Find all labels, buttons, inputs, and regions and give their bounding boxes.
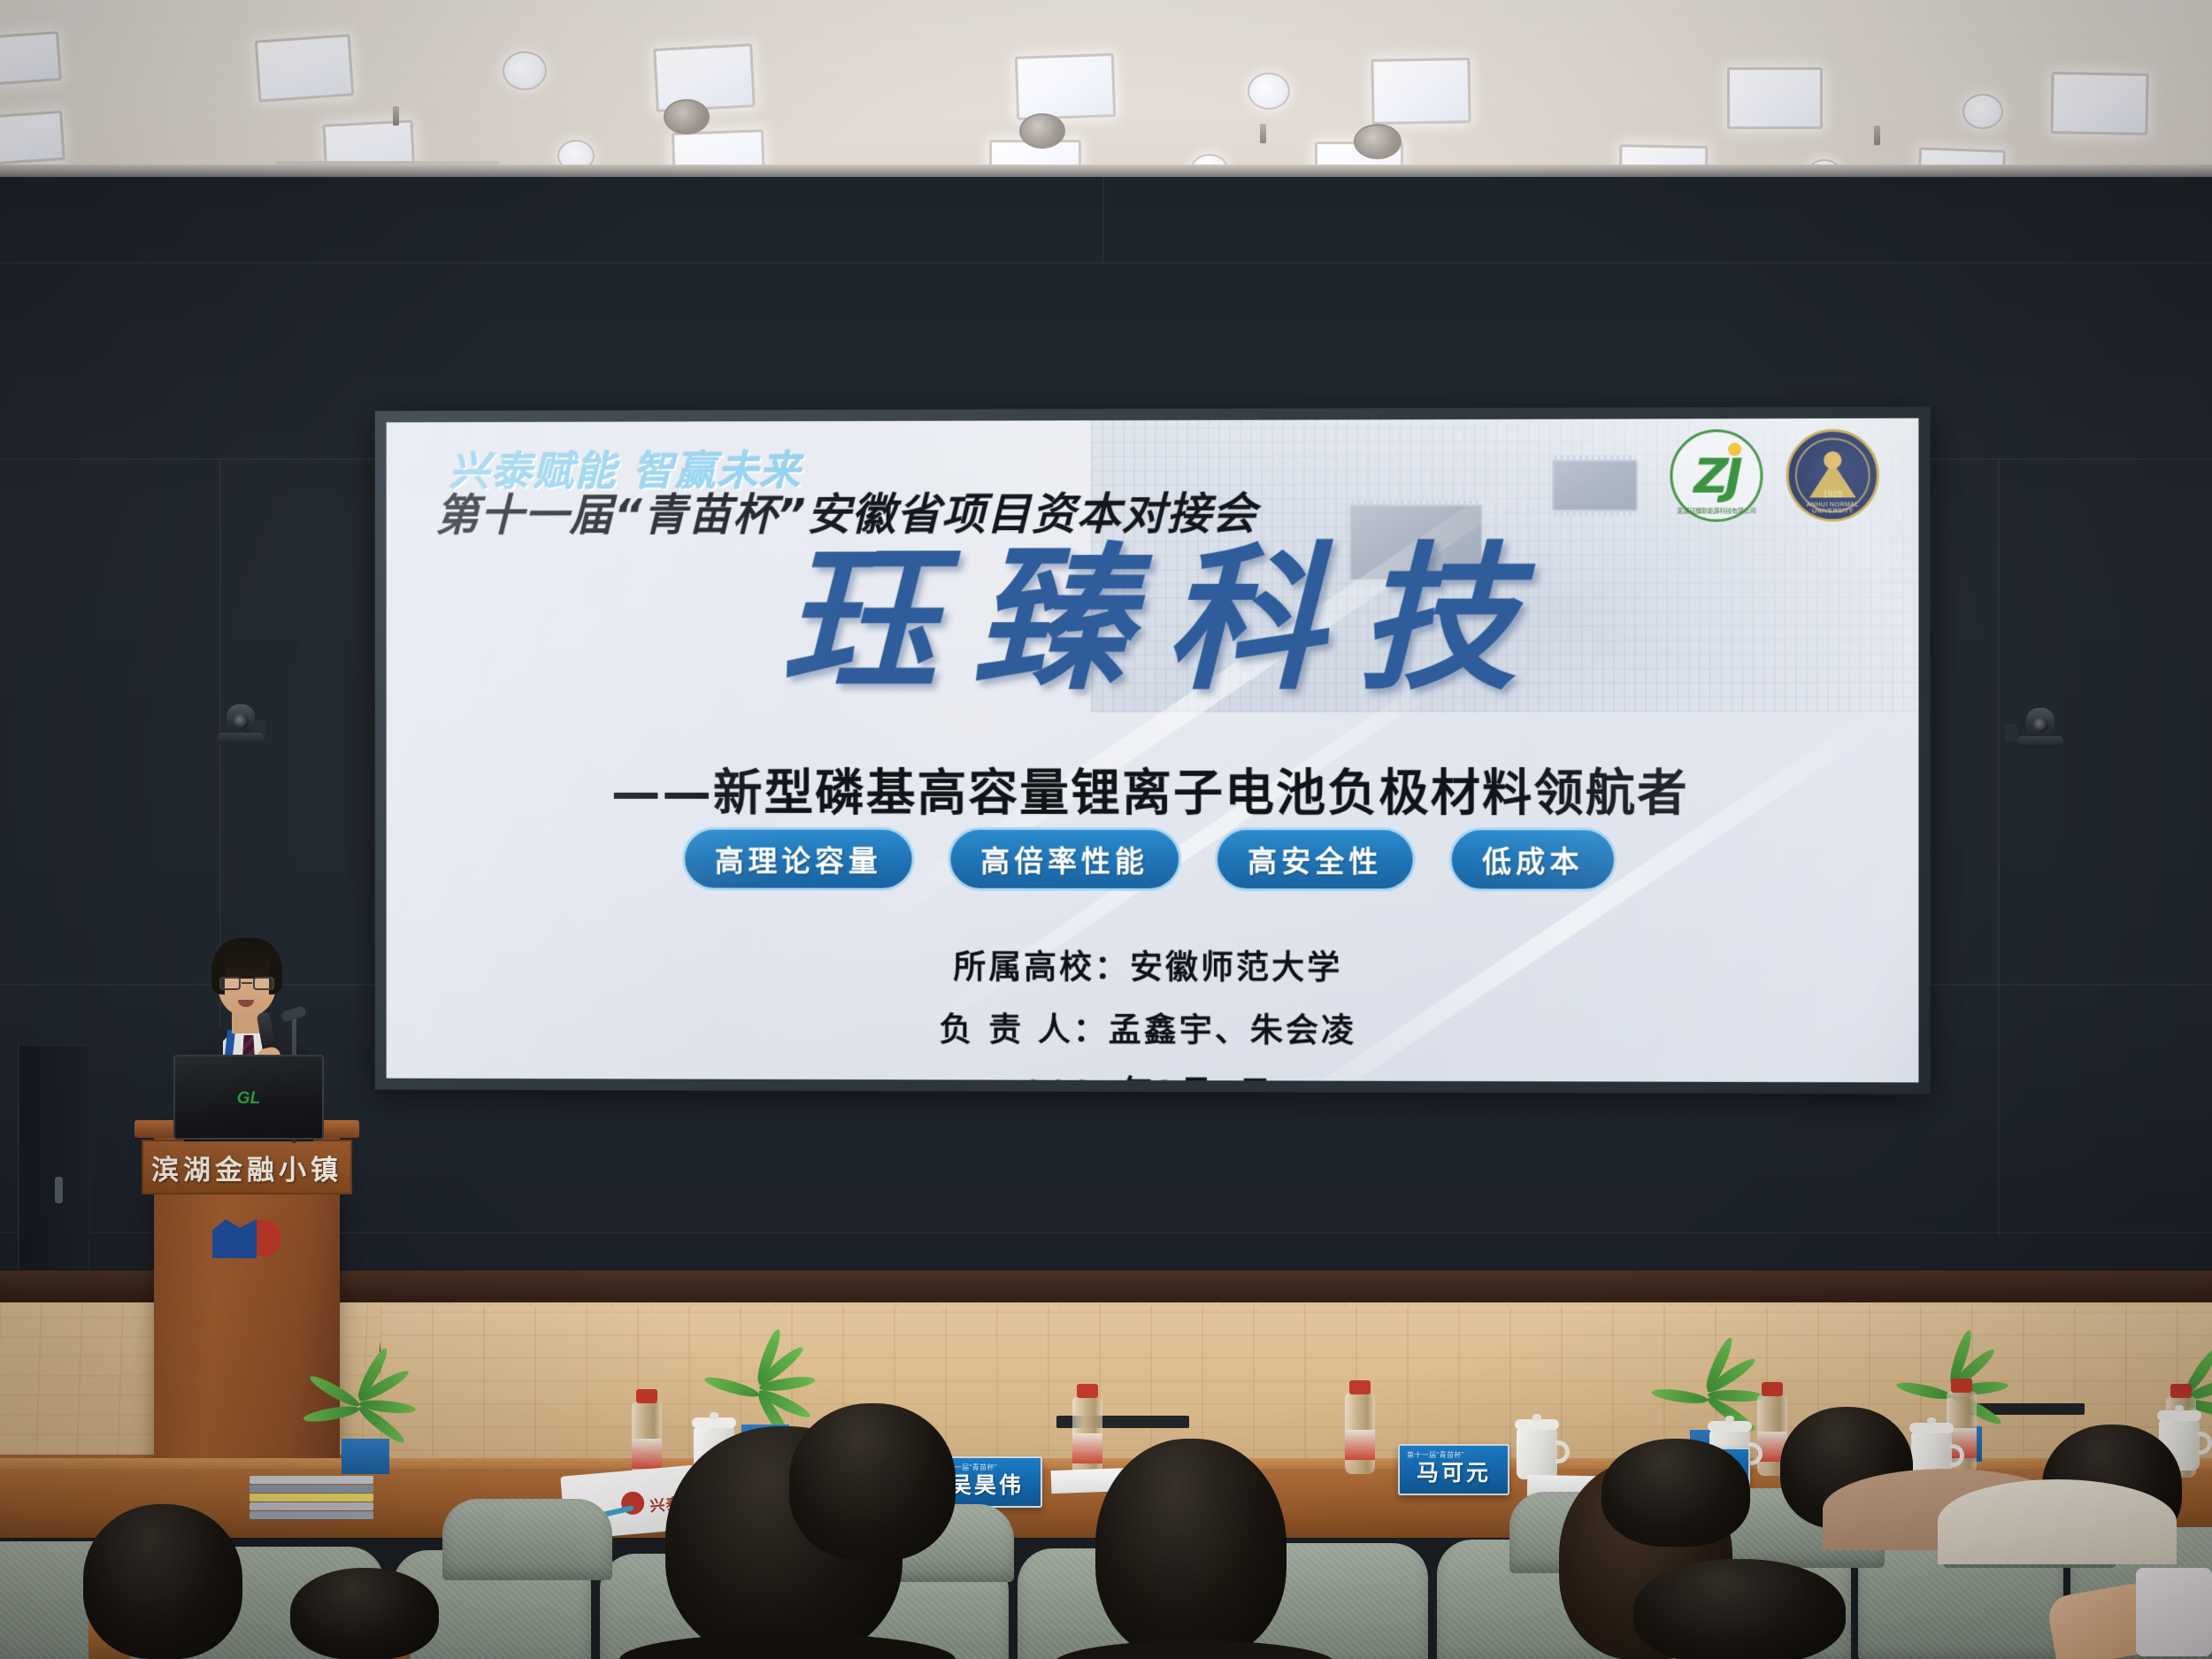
presenter-laptop[interactable]: GL <box>173 1055 324 1140</box>
ceiling-round-light <box>503 51 547 90</box>
conference-room-photo: 兴泰赋能 智赢未来 第十一届“青苗杯”安徽省项目资本对接会 ZJ 芜湖珏臻新能源… <box>0 0 2212 1659</box>
ceiling-panel-light <box>2050 72 2148 135</box>
plant-pot <box>342 1439 389 1474</box>
presentation-screen-bezel: 兴泰赋能 智赢未来 第十一届“青苗杯”安徽省项目资本对接会 ZJ 芜湖珏臻新能源… <box>375 406 1931 1094</box>
podium-sign-text: 滨湖金融小镇 <box>151 1148 342 1187</box>
bottle-cap <box>1077 1384 1098 1398</box>
mug-knob <box>1725 1416 1734 1423</box>
ceiling <box>0 0 2212 186</box>
feature-pill: 高倍率性能 <box>948 827 1181 891</box>
audience-seat <box>442 1499 612 1580</box>
bottle-cap <box>1951 1379 1972 1393</box>
ceiling-round-light <box>1248 73 1290 110</box>
wall-seam <box>1102 177 1104 262</box>
mug-knob <box>710 1412 718 1419</box>
audience-phone[interactable] <box>2136 1568 2212 1656</box>
audience-head <box>290 1568 439 1659</box>
university-logo-sun-icon <box>1824 451 1841 469</box>
ptz-camera-right <box>2016 708 2065 752</box>
company-logo-dot-icon <box>1728 442 1741 456</box>
plant-leaf <box>703 1374 761 1401</box>
company-logo-caption: 芜湖珏臻新能源科技有限公司 <box>1672 507 1760 516</box>
tea-mug <box>1517 1428 1557 1479</box>
meta-school: 所属高校：安徽师范大学 <box>387 940 1919 990</box>
camera-lens <box>2033 718 2048 733</box>
plant-leaf <box>1895 1379 1953 1402</box>
sprinkler-head <box>1260 124 1266 143</box>
door-handle[interactable] <box>55 1177 63 1203</box>
feature-pill-list: 高理论容量 高倍率性能 高安全性 低成本 <box>387 826 1919 892</box>
ceiling-speaker-grille <box>664 99 710 134</box>
bottle-cap <box>1349 1380 1371 1394</box>
bottle-label <box>1072 1433 1102 1463</box>
wall-seam <box>1998 458 2000 1237</box>
booklet-stack <box>250 1476 373 1517</box>
slide-logos: ZJ 芜湖珏臻新能源科技有限公司 1928 ANHUI NORMAL UNIVE… <box>1670 429 1878 522</box>
nameplate-name: 马可元 <box>1417 1455 1491 1494</box>
nameplate-subtitle: 第十一届“青苗杯” <box>1407 1450 1464 1460</box>
emblem-blue-shape <box>212 1219 257 1258</box>
laptop-logo: GL <box>237 1089 260 1109</box>
ceiling-panel-light <box>0 31 62 86</box>
potted-plant <box>311 1377 418 1474</box>
ceiling-panel-light <box>0 111 65 165</box>
glasses-lens-right <box>253 977 274 990</box>
university-logo-year: 1928 <box>1789 490 1877 500</box>
glasses-bridge <box>242 982 252 984</box>
booklet <box>250 1502 373 1510</box>
audience-head <box>1633 1559 1846 1659</box>
slide-meta-block: 所属高校：安徽师范大学 负 责 人：孟鑫宇、朱会凌 2024年3月7日 <box>387 940 1919 1083</box>
mug-knob <box>1927 1417 1936 1425</box>
ceiling-round-light <box>1962 94 2003 129</box>
camera-bracket <box>2005 724 2017 741</box>
sprinkler-head <box>393 106 399 126</box>
plant-leaf <box>1651 1386 1709 1406</box>
bottle-label <box>1345 1430 1375 1460</box>
camera-base <box>2017 736 2063 748</box>
slide-main-title: 珏臻科技 <box>387 539 1919 698</box>
camera-base <box>218 733 264 744</box>
nameplate-name: 吴昊伟 <box>949 1468 1024 1506</box>
company-logo: ZJ 芜湖珏臻新能源科技有限公司 <box>1670 429 1763 522</box>
plant-leaf <box>303 1403 360 1425</box>
booklet <box>250 1485 373 1493</box>
slide-content: 兴泰赋能 智赢未来 第十一届“青苗杯”安徽省项目资本对接会 ZJ 芜湖珏臻新能源… <box>387 419 1919 1083</box>
audience-shoulder-cream-coat <box>1938 1479 2177 1564</box>
booklet <box>250 1511 373 1519</box>
mug-knob <box>2175 1405 2184 1412</box>
bottle-cap <box>636 1389 657 1403</box>
meta-leader: 负 责 人：孟鑫宇、朱会凌 <box>387 1002 1919 1053</box>
university-logo: 1928 ANHUI NORMAL UNIVERSITY <box>1786 429 1879 522</box>
audience-head <box>1095 1439 1286 1659</box>
ceiling-panel-light <box>255 34 355 102</box>
audience-head <box>789 1403 956 1561</box>
feature-pill: 低成本 <box>1449 827 1617 891</box>
bottle-label <box>632 1439 662 1469</box>
ceiling-panel-light <box>653 43 756 112</box>
ceiling-panel-light <box>1371 58 1471 125</box>
presenter-glasses-icon <box>219 977 274 990</box>
ceiling-panel-light <box>1727 67 1823 129</box>
audience-head <box>83 1504 242 1659</box>
ceiling-speaker-grille <box>1019 113 1065 149</box>
water-bottle <box>1345 1393 1375 1474</box>
university-logo-name-en: ANHUI NORMAL UNIVERSITY <box>1789 502 1877 514</box>
podium-sign: 滨湖金融小镇 <box>142 1140 352 1194</box>
podium-emblem-icon <box>212 1217 281 1269</box>
presentation-screen: 兴泰赋能 智赢未来 第十一届“青苗杯”安徽省项目资本对接会 ZJ 芜湖珏臻新能源… <box>387 419 1919 1083</box>
feature-pill: 高理论容量 <box>682 827 914 891</box>
bottle-cap <box>1762 1382 1783 1396</box>
wall-seam <box>0 262 2212 264</box>
bottle-cap <box>2170 1384 2192 1398</box>
ceiling-speaker-grille <box>1354 124 1402 159</box>
slide-subtitle: ——新型磷基高容量锂离子电池负极材料领航者 <box>387 753 1919 826</box>
company-logo-mark: ZJ <box>1694 448 1740 503</box>
booklet <box>250 1494 373 1502</box>
audience-head <box>1601 1439 1750 1547</box>
plant-leaf <box>307 1372 362 1410</box>
camera-lens <box>234 714 249 729</box>
water-bottle <box>1072 1396 1102 1478</box>
ptz-camera-left <box>216 704 265 749</box>
glasses-lens-left <box>219 977 241 990</box>
ceiling-panel-light <box>1015 53 1116 120</box>
meta-date: 2024年3月7日 <box>387 1064 1919 1083</box>
delegate-nameplate: 第十一届“青苗杯” 马可元 <box>1398 1444 1509 1495</box>
booklet <box>250 1476 373 1484</box>
mug-knob <box>1532 1414 1541 1421</box>
sprinkler-head <box>1874 126 1880 145</box>
feature-pill: 高安全性 <box>1215 827 1416 891</box>
